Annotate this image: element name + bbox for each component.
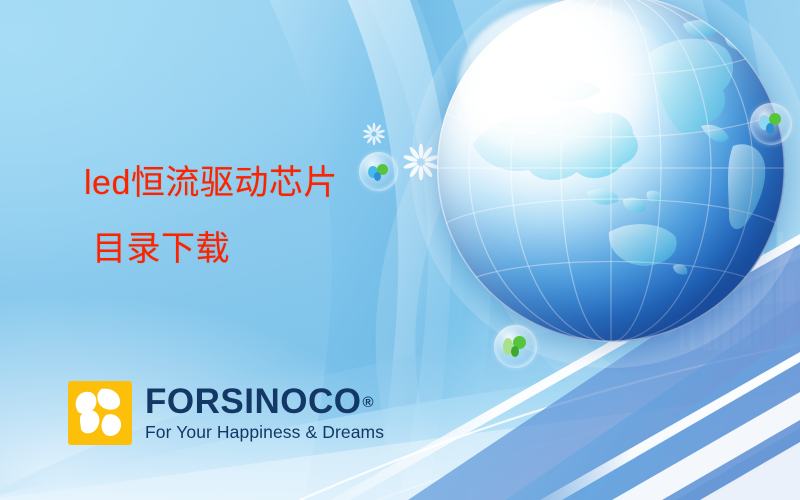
logo-wordmark-text: FORSINOCO	[145, 382, 361, 421]
headline-line-2: 目录下载	[92, 229, 338, 269]
registered-trademark-icon: ®	[362, 394, 374, 411]
logo-wordmark: FORSINOCO®	[145, 384, 373, 420]
headline-line-1: led恒流驱动芯片	[84, 164, 338, 202]
forsinoco-flower-mark	[68, 381, 132, 445]
promo-banner: led恒流驱动芯片 目录下载 FORSINOCO® For Your Happi…	[0, 0, 800, 500]
bubble-top-left	[359, 152, 398, 191]
globe-rim	[437, 0, 785, 342]
bubble-right-edge	[750, 103, 792, 145]
flower-petals-icon	[68, 381, 132, 445]
bubble-bottom-center	[494, 325, 537, 368]
brand-logo[interactable]: FORSINOCO® For Your Happiness & Dreams	[68, 381, 384, 445]
earth-globe-graphic	[437, 0, 785, 342]
logo-tagline: For Your Happiness & Dreams	[145, 422, 384, 442]
logo-text-block: FORSINOCO® For Your Happiness & Dreams	[145, 384, 384, 442]
page-title: led恒流驱动芯片 目录下载	[84, 163, 338, 269]
